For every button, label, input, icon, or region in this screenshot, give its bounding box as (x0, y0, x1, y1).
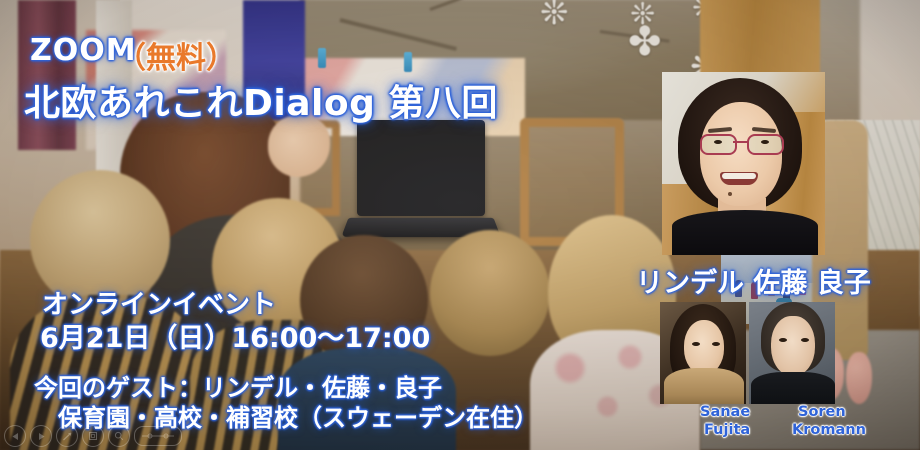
thumbnail-label-sanae-last: Fujita (704, 422, 750, 438)
paper-snowflake-icon: ❊ (540, 0, 569, 30)
eyebrow-free-label: （無料） (116, 33, 236, 77)
portrait-eye (714, 140, 722, 144)
guest-thumbnail-labels: Sanae Fujita Soren Kromann (660, 404, 920, 446)
portrait-black-top (672, 210, 818, 255)
bare-foot (846, 352, 872, 404)
video-player-controls[interactable] (4, 425, 182, 447)
paper-snowflake-icon: ✤ (628, 22, 662, 62)
laptop-lid (357, 120, 485, 216)
timeline-icon[interactable] (134, 426, 182, 446)
thumbnail-label-soren-first: Soren (798, 404, 846, 420)
zoom-icon[interactable] (108, 425, 130, 447)
thumbnail-eye (779, 338, 787, 342)
play-icon[interactable] (30, 425, 52, 447)
guest-thumbnail-sanae-fujita (660, 302, 746, 404)
child-head (430, 230, 550, 356)
portrait-smiling-mouth (720, 172, 758, 185)
thumbnail-label-soren-last: Kromann (792, 422, 866, 438)
portrait-eyeglasses (700, 134, 782, 151)
thumbnail-label-sanae-first: Sanae (700, 404, 750, 420)
zoom-event-poster: ❊ ❊ ✤ ❊ ❋ (0, 0, 920, 450)
page-title: 北欧あれこれDialog 第八回 (24, 74, 498, 126)
crop-icon[interactable] (82, 425, 104, 447)
guest-thumbnail-group (660, 302, 835, 404)
portrait-teeth (722, 173, 756, 179)
thumbnail-eye (801, 338, 809, 342)
next-icon[interactable] (56, 425, 78, 447)
speaker-name-label: リンデル 佐藤 良子 (636, 261, 871, 300)
eyeglass-bridge (733, 141, 749, 143)
thumbnail-eye (692, 342, 700, 346)
clothespin-clip (404, 52, 412, 72)
previous-icon[interactable] (4, 425, 26, 447)
thumbnail-shirt (751, 372, 835, 404)
main-speaker-portrait (662, 72, 825, 255)
eyeglass-lens (700, 134, 737, 155)
portrait-eye (761, 140, 769, 144)
guest-thumbnail-soren-kromann (749, 302, 835, 404)
event-datetime-label: 6月21日（日）16:00〜17:00 (40, 316, 430, 355)
thumbnail-eye (712, 342, 720, 346)
thumbnail-face (684, 320, 724, 374)
thumbnail-scarf (664, 368, 744, 404)
clothespin-clip (318, 48, 326, 68)
portrait-mole (728, 192, 732, 196)
thumbnail-face (771, 316, 815, 376)
eyeglass-lens (747, 134, 784, 155)
